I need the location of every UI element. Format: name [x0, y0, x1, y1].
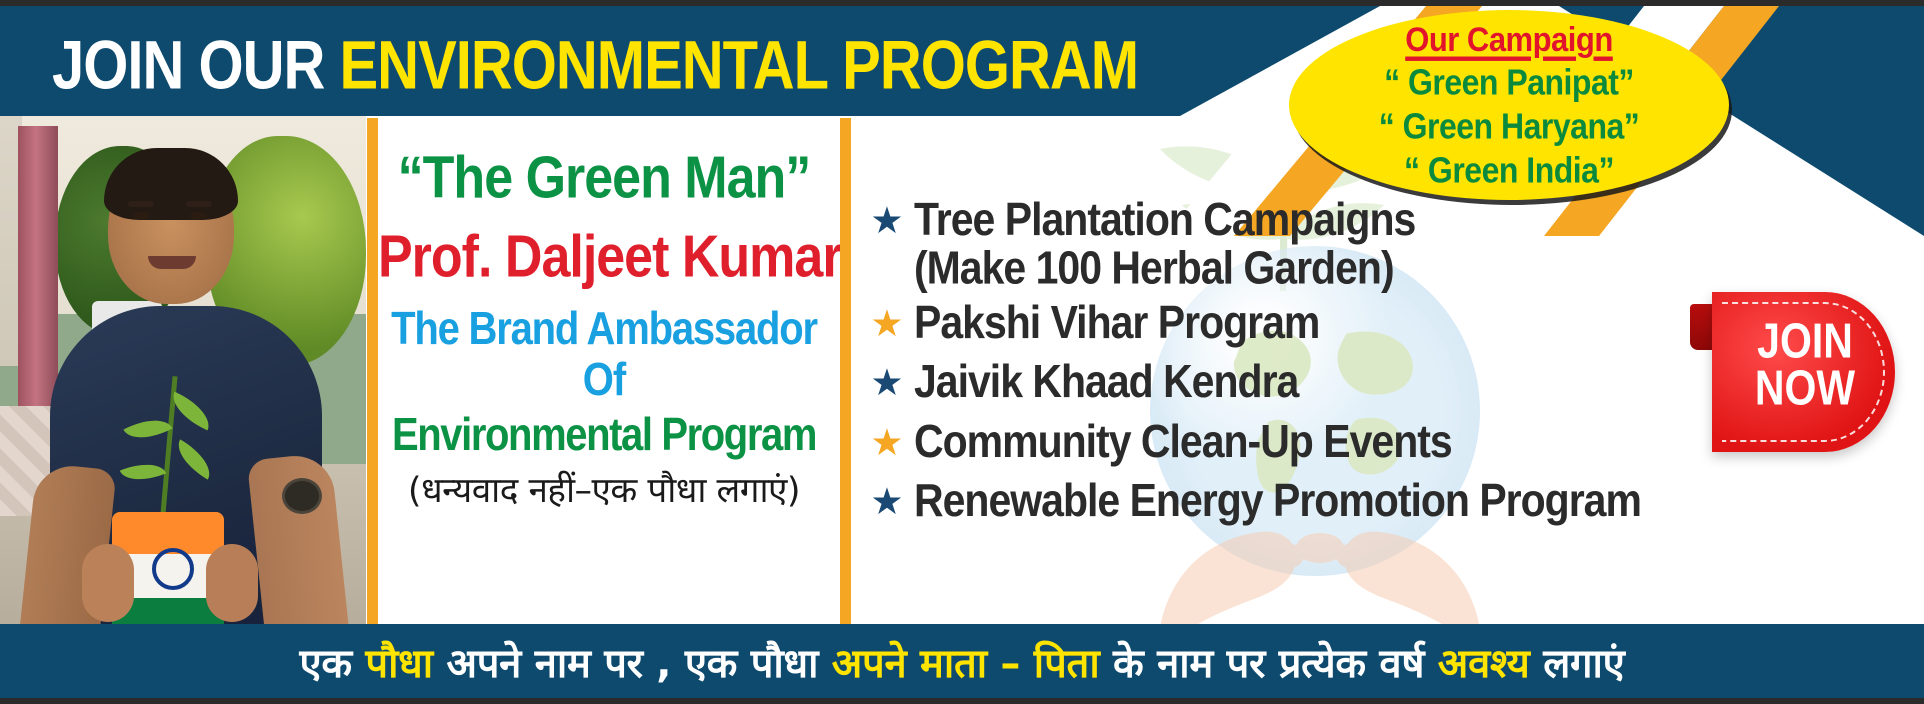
- environmental-program-banner: JOIN OUR ENVIRONMENTAL PROGRAM Our Campa…: [0, 0, 1924, 704]
- ashoka-chakra-icon: [152, 548, 194, 590]
- portrait-photo: [0, 116, 366, 636]
- star-icon: ★: [860, 418, 914, 461]
- footer-strip: एक पौधा अपने नाम पर , एक पौधा अपने माता …: [0, 624, 1924, 698]
- profile-role-line-2: Of: [378, 357, 830, 404]
- join-now-button[interactable]: JOIN NOW: [1690, 292, 1895, 462]
- star-icon: ★: [860, 196, 914, 239]
- profile-text-block: “The Green Man” Prof. Daljeet Kumar The …: [378, 120, 830, 632]
- title-environmental-program: ENVIRONMENTAL PROGRAM: [340, 27, 1139, 104]
- photo-person-eye-left: [133, 212, 150, 220]
- photo-wristwatch: [282, 478, 322, 514]
- campaign-title: Our Campaign: [1405, 20, 1613, 59]
- program-label: Renewable Energy Promotion Program: [914, 477, 1641, 526]
- photo-person-mouth: [148, 256, 196, 269]
- program-label: Community Clean-Up Events: [914, 418, 1452, 467]
- list-item: ★ Tree Plantation Campaigns (Make 100 He…: [860, 196, 1920, 283]
- footer-segment-4: के नाम पर प्रत्येक वर्ष: [1099, 641, 1437, 687]
- footer-segment-6: लगाएं: [1530, 641, 1625, 687]
- footer-segment-0: एक: [300, 641, 366, 687]
- photo-person-hand-left: [82, 544, 134, 622]
- footer-slogan: एक पौधा अपने नाम पर , एक पौधा अपने माता …: [300, 634, 1625, 689]
- program-label: Pakshi Vihar Program: [914, 299, 1319, 348]
- profile-hindi-note: (धन्यवाद नहीं–एक पौधा लगाएं): [378, 466, 830, 513]
- campaign-callout: Our Campaign “ Green Panipat” “ Green Ha…: [1289, 10, 1729, 200]
- campaign-item-green-panipat: “ Green Panipat”: [1384, 59, 1634, 104]
- photo-person-hand-right: [206, 544, 258, 622]
- cta-line-2: NOW: [1716, 365, 1894, 412]
- list-item: ★ Renewable Energy Promotion Program: [860, 477, 1920, 520]
- cta-line-1: JOIN: [1716, 318, 1894, 365]
- page-title: JOIN OUR ENVIRONMENTAL PROGRAM: [52, 32, 1138, 100]
- photo-person-brow-left: [128, 201, 154, 207]
- divider-right: [840, 118, 851, 636]
- footer-segment-2: अपने नाम पर , एक पौधा: [433, 641, 832, 687]
- profile-role-line-1: The Brand Ambassador: [378, 306, 830, 353]
- divider-left: [367, 118, 378, 636]
- photo-person-brow-right: [186, 201, 212, 207]
- photo-person-hair: [104, 148, 238, 220]
- campaign-item-green-haryana: “ Green Haryana”: [1379, 103, 1640, 148]
- join-now-label: JOIN NOW: [1716, 318, 1894, 412]
- profile-name: Prof. Daljeet Kumar: [378, 227, 830, 288]
- program-label: Jaivik Khaad Kendra: [914, 358, 1298, 407]
- photo-person-eye-right: [190, 212, 207, 220]
- photo-pillar: [18, 126, 58, 426]
- footer-segment-1: पौधा: [365, 641, 432, 687]
- campaign-item-green-india: “ Green India”: [1404, 147, 1614, 192]
- star-icon: ★: [860, 477, 914, 520]
- footer-segment-3: अपने माता – पिता: [832, 641, 1100, 687]
- title-join-our: JOIN OUR: [52, 27, 340, 104]
- star-icon: ★: [860, 299, 914, 342]
- profile-nickname: “The Green Man”: [378, 148, 830, 209]
- program-label: Tree Plantation Campaigns (Make 100 Herb…: [914, 196, 1415, 293]
- profile-role-line-3: Environmental Program: [378, 412, 830, 459]
- footer-segment-5: अवश्य: [1438, 641, 1530, 687]
- star-icon: ★: [860, 358, 914, 401]
